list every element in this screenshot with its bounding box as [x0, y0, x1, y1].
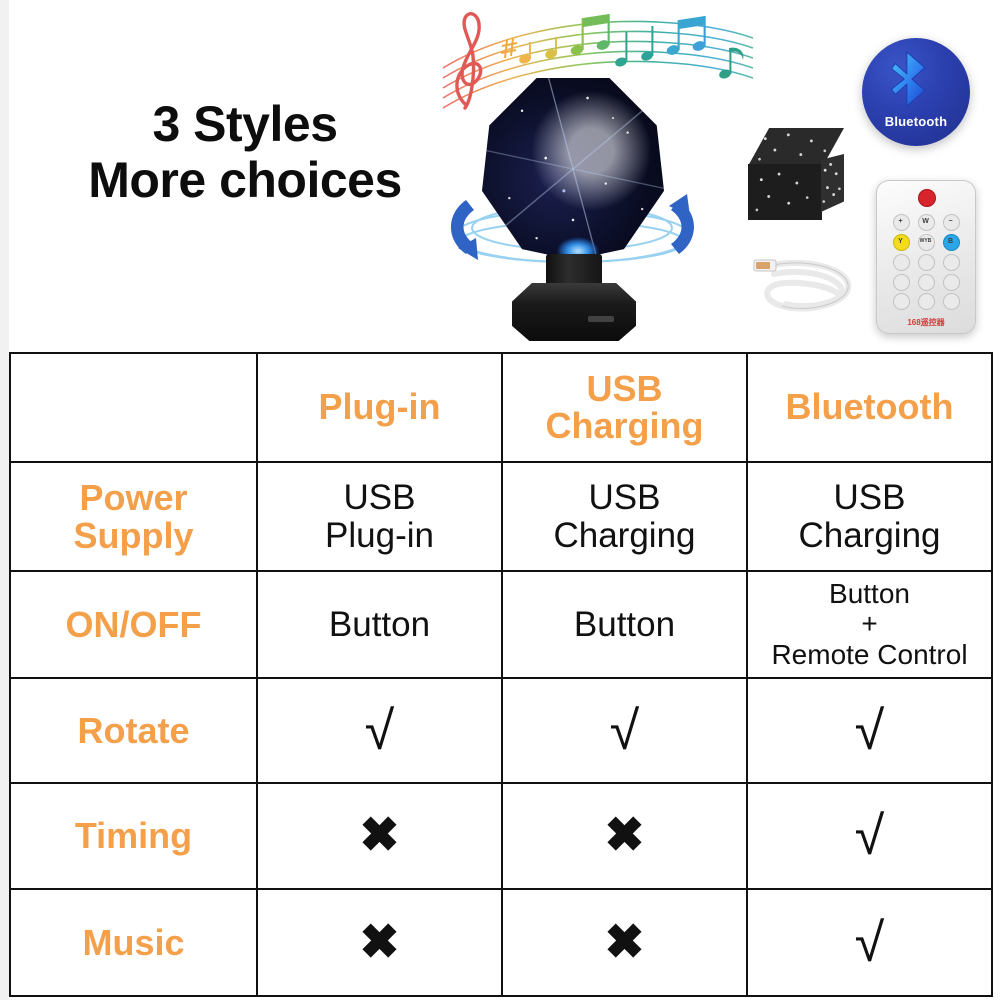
bluetooth-icon — [880, 47, 944, 111]
row-label-music: Music — [10, 889, 257, 996]
remote-button-r4c2 — [918, 274, 935, 291]
table-row-rotate: Rotate √ √ √ — [10, 678, 992, 783]
remote-button-next — [943, 293, 960, 310]
row-label-timing: Timing — [10, 783, 257, 889]
column-header-bluetooth: Bluetooth — [747, 353, 992, 462]
cell-onoff-plugin: Button — [257, 571, 502, 678]
cell-timing-plugin: ✖ — [257, 783, 502, 889]
cell-timing-bluetooth: √ — [747, 783, 992, 889]
remote-button-r4c1 — [893, 274, 910, 291]
row-label-onoff: ON/OFF — [10, 571, 257, 678]
product-gift-box — [742, 128, 850, 223]
projector-port — [588, 316, 614, 322]
check-icon: √ — [752, 916, 987, 970]
remote-b-label: B — [943, 234, 958, 249]
column-header-plugin: Plug-in — [257, 353, 502, 462]
remote-minus-label: − — [943, 214, 958, 229]
headline-line-1: 3 Styles — [45, 96, 445, 152]
table-row-timing: Timing ✖ ✖ √ — [10, 783, 992, 889]
cell-music-usb: ✖ — [502, 889, 747, 996]
cell-rotate-bluetooth: √ — [747, 678, 992, 783]
hero-headline: 3 Styles More choices — [45, 96, 445, 208]
star-projector-product-image — [440, 78, 705, 358]
table-row-power-supply: Power Supply USB Plug-in USB Charging US… — [10, 462, 992, 571]
cross-icon: ✖ — [507, 812, 742, 860]
remote-y-label: Y — [893, 234, 908, 249]
infographic-canvas: 3 Styles More choices — [0, 0, 1000, 1000]
remote-w-label: W — [918, 214, 933, 229]
remote-button-r3c3 — [943, 254, 960, 271]
headline-line-2: More choices — [45, 152, 445, 208]
column-header-usb-charging: USB Charging — [502, 353, 747, 462]
table-header-row: Plug-in USB Charging Bluetooth — [10, 353, 992, 462]
check-icon: √ — [507, 704, 742, 758]
usb-cable-image — [748, 248, 868, 320]
remote-button-prev — [893, 293, 910, 310]
remote-power-button — [918, 189, 936, 207]
remote-button-r3c1 — [893, 254, 910, 271]
cell-timing-usb: ✖ — [502, 783, 747, 889]
remote-model-label: 168遥控器 — [877, 317, 975, 328]
remote-control-image: + W − Y WYB B 168遥控器 — [876, 180, 976, 334]
box-side — [821, 154, 844, 212]
cross-icon: ✖ — [262, 812, 497, 860]
cell-rotate-plugin: √ — [257, 678, 502, 783]
remote-button-r4c3 — [943, 274, 960, 291]
cell-onoff-bluetooth: Button + Remote Control — [747, 571, 992, 678]
hero-section: 3 Styles More choices — [0, 0, 1000, 352]
projector-base — [512, 283, 636, 341]
cell-music-bluetooth: √ — [747, 889, 992, 996]
remote-wyb-label: WYB — [918, 234, 933, 249]
cross-icon: ✖ — [262, 919, 497, 967]
bluetooth-badge-label: Bluetooth — [862, 114, 970, 129]
remote-button-playpause — [918, 293, 935, 310]
cell-music-plugin: ✖ — [257, 889, 502, 996]
comparison-table: Plug-in USB Charging Bluetooth Power Sup… — [9, 352, 993, 997]
cell-rotate-usb: √ — [502, 678, 747, 783]
row-label-power-supply: Power Supply — [10, 462, 257, 571]
row-label-rotate: Rotate — [10, 678, 257, 783]
check-icon: √ — [262, 704, 497, 758]
table-row-music: Music ✖ ✖ √ — [10, 889, 992, 996]
remote-plus-label: + — [893, 214, 908, 229]
check-icon: √ — [752, 704, 987, 758]
cross-icon: ✖ — [507, 919, 742, 967]
remote-button-r3c2 — [918, 254, 935, 271]
cell-power-bluetooth: USB Charging — [747, 462, 992, 571]
cell-onoff-usb: Button — [502, 571, 747, 678]
bluetooth-badge: Bluetooth — [862, 38, 970, 146]
cell-power-plugin: USB Plug-in — [257, 462, 502, 571]
table-corner-cell — [10, 353, 257, 462]
table-row-onoff: ON/OFF Button Button Button + Remote Con… — [10, 571, 992, 678]
box-front — [748, 164, 822, 220]
cell-power-usb: USB Charging — [502, 462, 747, 571]
check-icon: √ — [752, 809, 987, 863]
